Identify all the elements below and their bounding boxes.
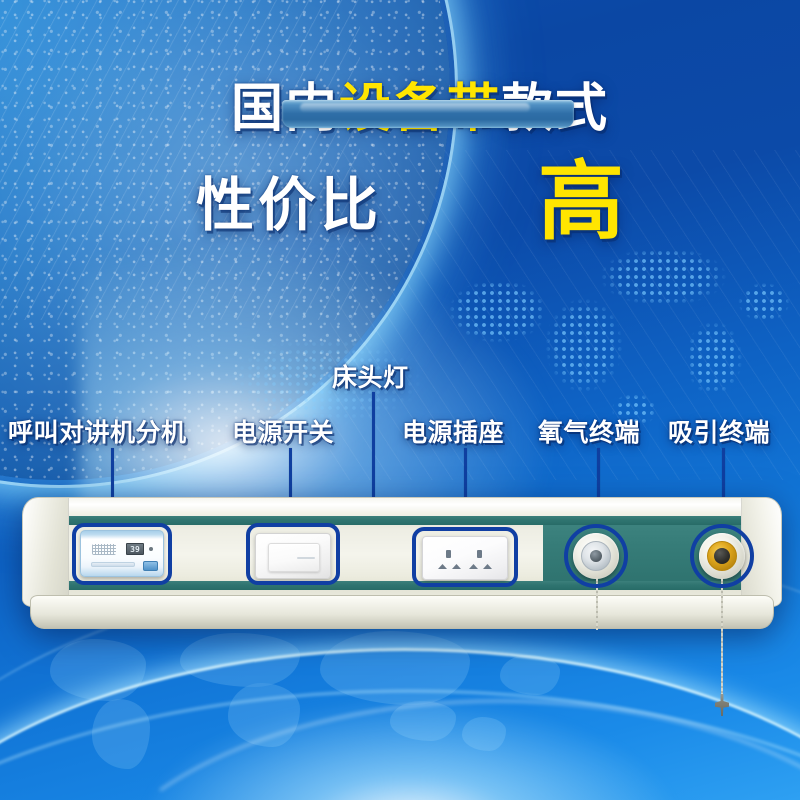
highlight-circle-oxygen [564, 524, 628, 588]
callout-label-power-socket: 电源插座 [402, 413, 504, 449]
highlight-box-switch [246, 523, 340, 585]
callout-label-oxygen-terminal: 氧气终端 [538, 413, 640, 449]
suction-pull-cord[interactable] [721, 578, 723, 698]
callout-label-suction-terminal: 吸引终端 [668, 413, 770, 449]
callout-label-call-intercom: 呼叫对讲机分机 [8, 413, 187, 449]
highlight-box-socket [412, 527, 518, 587]
banner-stage: 国内设备带款式 性价比高 呼叫对讲机分机 电源开关 床头灯 电源插座 氧气终端 … [0, 0, 800, 800]
panel-stripe-top [59, 516, 781, 525]
panel-bottom-rail [30, 595, 774, 629]
callout-label-power-switch: 电源开关 [232, 413, 334, 449]
bed-lamp-sheen [300, 103, 530, 112]
callout-label-bed-lamp: 床头灯 [332, 358, 409, 394]
panel-endcap-left [23, 498, 69, 607]
highlight-circle-suction [690, 524, 754, 588]
highlight-box-intercom [72, 523, 172, 585]
